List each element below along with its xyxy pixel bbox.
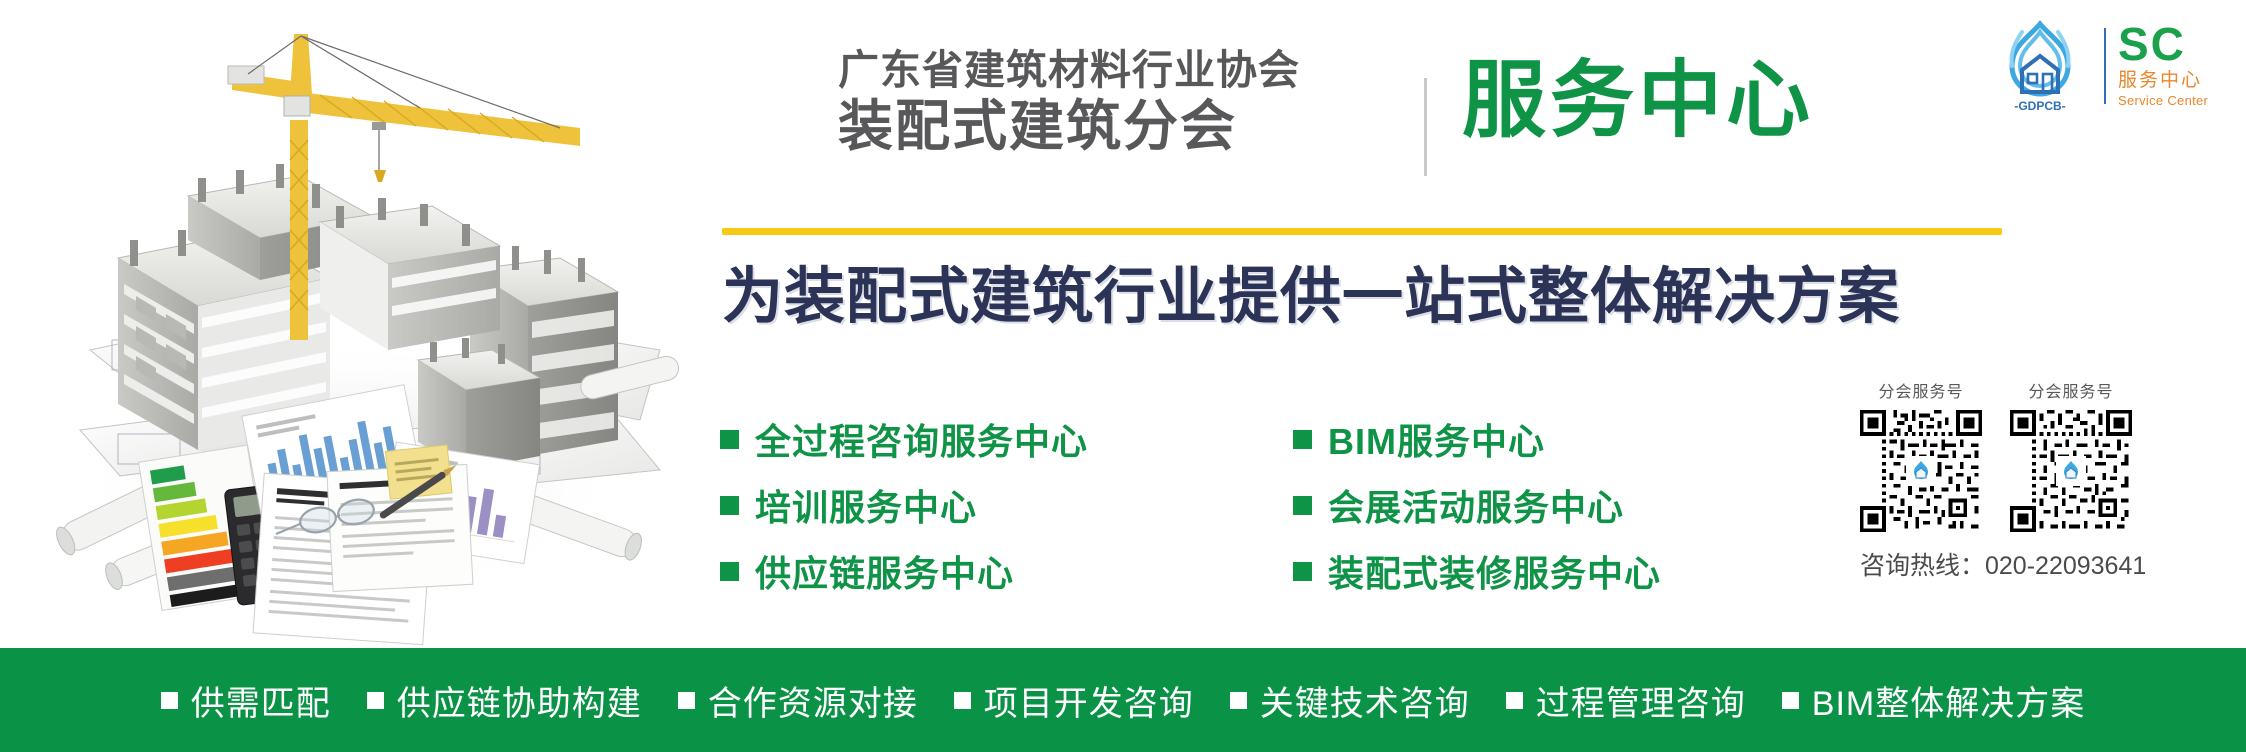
square-bullet-icon: [1506, 692, 1523, 709]
association-title: 广东省建筑材料行业协会 装配式建筑分会: [838, 48, 1398, 156]
qr-center-logo-icon: [2056, 456, 2086, 486]
logo-vertical-divider: [2104, 28, 2106, 104]
service-list-left: 全过程咨询服务中心 培训服务中心 供应链服务中心: [720, 406, 1088, 604]
service-item-label: 会展活动服务中心: [1328, 479, 1624, 531]
qr-code-row: 分会服务号: [1860, 378, 2190, 532]
service-item-label: 装配式装修服务中心: [1328, 545, 1661, 597]
bottom-bar-item[interactable]: 过程管理咨询: [1506, 676, 1746, 725]
bottom-bar-item-label: 过程管理咨询: [1536, 676, 1746, 725]
logo-text-block: SC 服务中心 Service Center: [2118, 23, 2208, 108]
square-bullet-icon: [1230, 692, 1247, 709]
square-bullet-icon: [1293, 430, 1312, 449]
bottom-bar-item-label: BIM整体解决方案: [1812, 676, 2085, 725]
gdpcb-flame-house-icon: -GDPCB-: [1988, 16, 2092, 116]
square-bullet-icon: [1293, 562, 1312, 581]
bottom-service-bar: 供需匹配 供应链协助构建 合作资源对接 项目开发咨询 关键技术咨询 过程管理咨询…: [0, 648, 2246, 752]
gold-divider-line: [722, 228, 2002, 235]
service-list-right: BIM服务中心 会展活动服务中心 装配式装修服务中心: [1293, 406, 1661, 604]
gdpcb-wordmark: -GDPCB-: [2014, 99, 2065, 113]
service-item[interactable]: 装配式装修服务中心: [1293, 538, 1661, 604]
qr-code-area: 分会服务号: [1860, 378, 2190, 582]
service-item[interactable]: 培训服务中心: [720, 472, 1088, 538]
square-bullet-icon: [161, 692, 178, 709]
brand-logo: -GDPCB- SC 服务中心 Service Center: [1988, 14, 2228, 118]
bottom-bar-item[interactable]: 供应链协助构建: [367, 676, 642, 725]
logo-chinese-text: 服务中心: [2118, 70, 2202, 93]
service-item-label: BIM服务中心: [1328, 413, 1545, 465]
logo-english-text: Service Center: [2118, 93, 2208, 109]
qr-code-block: 分会服务号: [1860, 378, 1982, 532]
bottom-bar-item[interactable]: 项目开发咨询: [954, 676, 1194, 725]
bottom-bar-item-label: 关键技术咨询: [1260, 676, 1470, 725]
service-item[interactable]: 供应链服务中心: [720, 538, 1088, 604]
square-bullet-icon: [720, 430, 739, 449]
hotline-text: 咨询热线：020-22093641: [1860, 546, 2190, 582]
service-item[interactable]: 会展活动服务中心: [1293, 472, 1661, 538]
service-item-label: 供应链服务中心: [755, 545, 1014, 597]
bottom-bar-item[interactable]: 关键技术咨询: [1230, 676, 1470, 725]
square-bullet-icon: [1782, 692, 1799, 709]
qr-code-image-2[interactable]: [2010, 410, 2132, 532]
qr-center-logo-icon: [1906, 456, 1936, 486]
logo-sc-text: SC: [2118, 23, 2186, 67]
title-vertical-divider: [1424, 78, 1427, 176]
bottom-bar-item-label: 合作资源对接: [708, 676, 918, 725]
association-name-line2: 装配式建筑分会: [838, 96, 1398, 157]
qr-code-caption: 分会服务号: [2010, 378, 2132, 402]
square-bullet-icon: [720, 496, 739, 515]
square-bullet-icon: [954, 692, 971, 709]
service-center-heading: 服务中心: [1462, 58, 1814, 142]
square-bullet-icon: [678, 692, 695, 709]
service-item-label: 全过程咨询服务中心: [755, 413, 1088, 465]
bottom-bar-item-label: 供需匹配: [191, 676, 331, 725]
bottom-bar-item-label: 项目开发咨询: [984, 676, 1194, 725]
qr-code-caption: 分会服务号: [1860, 378, 1982, 402]
bottom-bar-item-label: 供应链协助构建: [397, 676, 642, 725]
slogan-text: 为装配式建筑行业提供一站式整体解决方案: [722, 263, 1900, 330]
bottom-bar-item[interactable]: BIM整体解决方案: [1782, 676, 2085, 725]
service-item[interactable]: 全过程咨询服务中心: [720, 406, 1088, 472]
service-item[interactable]: BIM服务中心: [1293, 406, 1661, 472]
square-bullet-icon: [1293, 496, 1312, 515]
square-bullet-icon: [720, 562, 739, 581]
bottom-bar-item[interactable]: 合作资源对接: [678, 676, 918, 725]
construction-building-render: [0, 0, 700, 650]
qr-code-block: 分会服务号: [2010, 378, 2132, 532]
square-bullet-icon: [367, 692, 384, 709]
bottom-bar-item[interactable]: 供需匹配: [161, 676, 331, 725]
promotional-banner: 广东省建筑材料行业协会 装配式建筑分会 服务中心 为装配式建筑行业提供一站式整体…: [0, 0, 2246, 752]
service-item-label: 培训服务中心: [755, 479, 977, 531]
qr-code-image-1[interactable]: [1860, 410, 1982, 532]
association-name-line1: 广东省建筑材料行业协会: [838, 48, 1398, 94]
